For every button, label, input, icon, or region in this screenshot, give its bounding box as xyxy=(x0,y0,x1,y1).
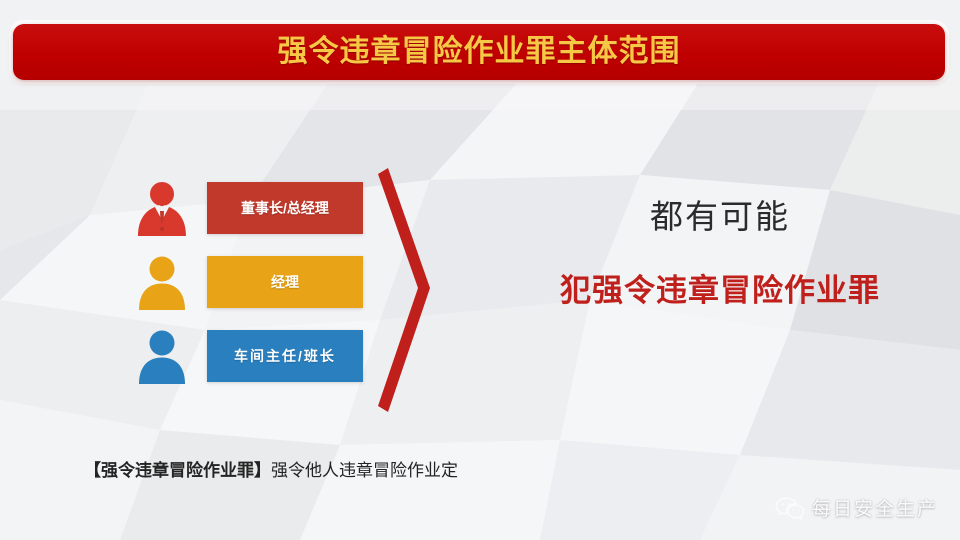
person-manager-icon xyxy=(133,254,191,310)
footer-caption: 【强令违章冒险作业罪】强令他人违章冒险作业定 xyxy=(84,462,458,479)
role-row: 董事长/总经理 xyxy=(133,182,363,234)
conclusion-line-2: 犯强令违章冒险作业罪 xyxy=(520,275,920,306)
role-bar-label: 经理 xyxy=(271,275,299,289)
role-bar-supervisor[interactable]: 车间主任/班长 xyxy=(207,330,363,382)
conclusion-block: 都有可能 犯强令违章冒险作业罪 xyxy=(520,200,920,306)
person-executive-icon xyxy=(133,180,191,236)
slide-canvas: 强令违章冒险作业罪主体范围 董事长/总经理 经理 车间主任/班长 xyxy=(0,0,960,540)
person-supervisor-icon xyxy=(133,328,191,384)
role-row: 经理 xyxy=(133,256,363,308)
footer-caption-emphasis: 【强令违章冒险作业罪】 xyxy=(84,461,271,480)
role-bar-executive[interactable]: 董事长/总经理 xyxy=(207,182,363,234)
page-title: 强令违章冒险作业罪主体范围 xyxy=(278,37,681,67)
role-bar-label: 车间主任/班长 xyxy=(234,349,336,363)
wechat-icon xyxy=(775,496,805,522)
title-bar: 强令违章冒险作业罪主体范围 xyxy=(13,24,945,80)
conclusion-line-1: 都有可能 xyxy=(520,200,920,233)
watermark: 每日安全生产 xyxy=(775,496,938,522)
watermark-text: 每日安全生产 xyxy=(812,500,938,519)
footer-caption-rest: 强令他人违章冒险作业定 xyxy=(271,461,458,480)
role-bar-label: 董事长/总经理 xyxy=(241,201,329,215)
chevron-right-arrow xyxy=(368,168,438,412)
role-row: 车间主任/班长 xyxy=(133,330,363,382)
role-bar-manager[interactable]: 经理 xyxy=(207,256,363,308)
